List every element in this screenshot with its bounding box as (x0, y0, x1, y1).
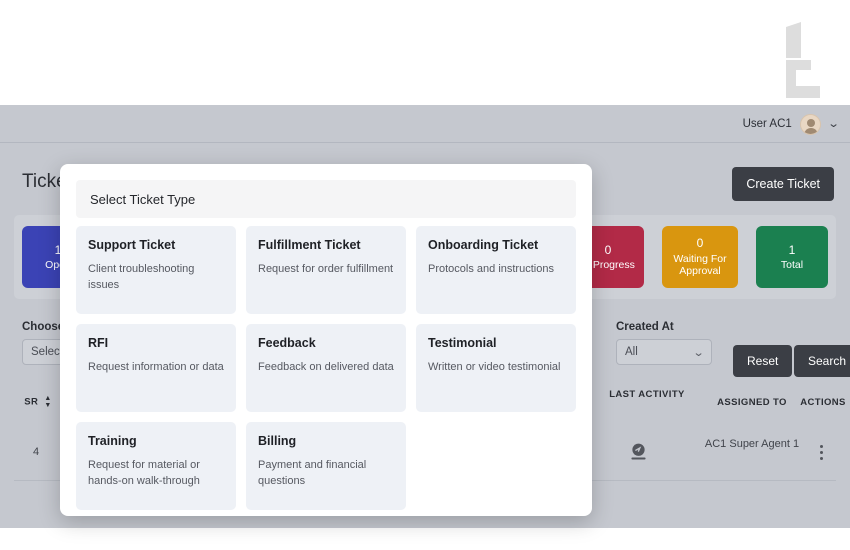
column-header-actions: ACTIONS (792, 397, 850, 409)
stat-card-total[interactable]: 1 Total (756, 226, 828, 288)
ticket-type-title: Testimonial (428, 336, 564, 350)
ticket-type-title: Training (88, 434, 224, 448)
column-header-sr[interactable]: SR ▲ ▼ (14, 395, 62, 409)
ticket-type-testimonial[interactable]: Testimonial Written or video testimonial (416, 324, 576, 412)
user-name-label: User AC1 (743, 118, 792, 130)
header-bar: User AC1 ⌄ (0, 105, 850, 143)
ticket-type-rfi[interactable]: RFI Request information or data (76, 324, 236, 412)
ticket-type-desc: Payment and financial questions (258, 458, 394, 490)
select-ticket-type-modal: Select Ticket Type Support Ticket Client… (60, 164, 592, 516)
ticket-type-title: Feedback (258, 336, 394, 350)
activity-clock-icon[interactable] (628, 441, 649, 467)
app-root: User AC1 ⌄ Ticket Create Ticket 1 Open (0, 0, 850, 550)
filter-created-at: Created At All ⌄ (616, 321, 712, 365)
ticket-type-fulfillment[interactable]: Fulfillment Ticket Request for order ful… (246, 226, 406, 314)
choose-client-value: Select (31, 346, 63, 358)
ticket-type-desc: Request for order fulfillment (258, 262, 394, 278)
top-band (0, 0, 850, 105)
stat-label: Waiting For Approval (662, 253, 738, 278)
create-ticket-button[interactable]: Create Ticket (732, 167, 834, 201)
sort-icon[interactable]: ▲ ▼ (44, 395, 51, 409)
ticket-type-title: Fulfillment Ticket (258, 238, 394, 252)
created-at-label: Created At (616, 321, 712, 333)
ticket-type-desc: Written or video testimonial (428, 360, 564, 376)
stat-label: Total (781, 259, 803, 272)
chevron-down-icon[interactable]: ⌄ (827, 119, 839, 130)
cell-assigned-to: AC1 Super Agent 1 (704, 437, 800, 451)
user-menu[interactable]: User AC1 ⌄ (743, 105, 838, 143)
cell-sr: 4 (14, 445, 58, 459)
reset-button[interactable]: Reset (733, 345, 792, 377)
ticket-type-desc: Request for material or hands-on walk-th… (88, 458, 224, 490)
ticket-type-desc: Client troubleshooting issues (88, 262, 224, 294)
ticket-type-desc: Feedback on delivered data (258, 360, 394, 376)
stat-count: 0 (697, 236, 704, 250)
column-header-last-activity[interactable]: LAST ACTIVITY (602, 389, 692, 401)
created-at-select[interactable]: All ⌄ (616, 339, 712, 365)
company-logo-icon (772, 18, 830, 88)
ticket-type-title: RFI (88, 336, 224, 350)
ticket-type-grid: Support Ticket Client troubleshooting is… (76, 226, 576, 510)
ticket-type-onboarding[interactable]: Onboarding Ticket Protocols and instruct… (416, 226, 576, 314)
search-button[interactable]: Search (794, 345, 850, 377)
ticket-type-title: Support Ticket (88, 238, 224, 252)
ticket-type-title: Billing (258, 434, 394, 448)
stat-card-waiting-approval[interactable]: 0 Waiting For Approval (662, 226, 738, 288)
ticket-type-feedback[interactable]: Feedback Feedback on delivered data (246, 324, 406, 412)
ticket-type-desc: Protocols and instructions (428, 262, 564, 278)
chevron-down-icon[interactable]: ⌄ (692, 346, 704, 359)
modal-title: Select Ticket Type (76, 180, 576, 218)
ticket-type-training[interactable]: Training Request for material or hands-o… (76, 422, 236, 510)
created-at-value: All (625, 346, 638, 358)
ticket-type-support[interactable]: Support Ticket Client troubleshooting is… (76, 226, 236, 314)
ticket-type-title: Onboarding Ticket (428, 238, 564, 252)
stat-count: 1 (789, 243, 796, 257)
ticket-type-billing[interactable]: Billing Payment and financial questions (246, 422, 406, 510)
kebab-menu-icon[interactable] (820, 445, 823, 460)
stat-count: 0 (605, 243, 612, 257)
column-header-assigned-to[interactable]: ASSIGNED TO (704, 397, 800, 409)
ticket-type-desc: Request information or data (88, 360, 224, 376)
user-avatar[interactable] (800, 114, 821, 135)
